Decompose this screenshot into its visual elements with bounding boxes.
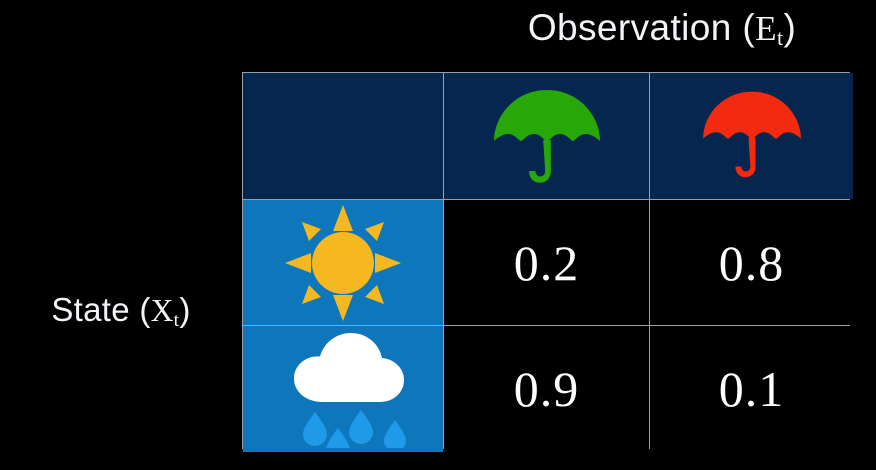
column-axis-close-paren: ) — [783, 7, 796, 48]
row-axis-variable: Xt — [151, 293, 180, 328]
row-axis-close-paren: ) — [179, 291, 190, 328]
column-axis-open-paren: ( — [742, 7, 755, 48]
table-corner-cell — [243, 73, 443, 199]
probability-table: 0.2 0.8 0.9 0.1 — [242, 72, 850, 449]
column-axis-space — [732, 7, 743, 48]
cell-rain-umbrella-green[interactable]: 0.9 — [444, 326, 649, 452]
column-axis-variable-letter: E — [755, 9, 777, 48]
row-axis-open-paren: ( — [139, 291, 150, 328]
umbrella-green-icon — [444, 73, 649, 199]
row-header-rain[interactable] — [243, 326, 443, 452]
column-axis-title: Observation (Et) — [462, 8, 862, 49]
column-header-umbrella-green[interactable] — [444, 73, 649, 199]
row-axis-title-text: State — [51, 291, 130, 328]
rain-cloud-icon — [243, 326, 443, 452]
row-header-sun[interactable] — [243, 200, 443, 325]
row-axis-variable-letter: X — [151, 293, 174, 328]
umbrella-red-icon — [700, 86, 804, 182]
column-axis-variable: Et — [755, 9, 783, 48]
sun-icon — [243, 200, 443, 325]
cell-sun-umbrella-green[interactable]: 0.2 — [444, 200, 649, 325]
cell-sun-umbrella-red[interactable]: 0.8 — [650, 200, 853, 325]
column-axis-variable-subscript: t — [777, 26, 783, 50]
probability-value: 0.9 — [514, 364, 580, 414]
probability-value: 0.8 — [719, 238, 785, 288]
probability-value: 0.2 — [514, 238, 580, 288]
column-axis-title-text: Observation — [528, 7, 732, 48]
probability-value: 0.1 — [719, 364, 785, 414]
column-header-umbrella-red[interactable] — [650, 73, 853, 199]
cell-rain-umbrella-red[interactable]: 0.1 — [650, 326, 853, 452]
row-axis-space — [130, 291, 139, 328]
row-axis-title: State (Xt) — [8, 292, 234, 328]
row-axis-variable-subscript: t — [174, 310, 180, 331]
